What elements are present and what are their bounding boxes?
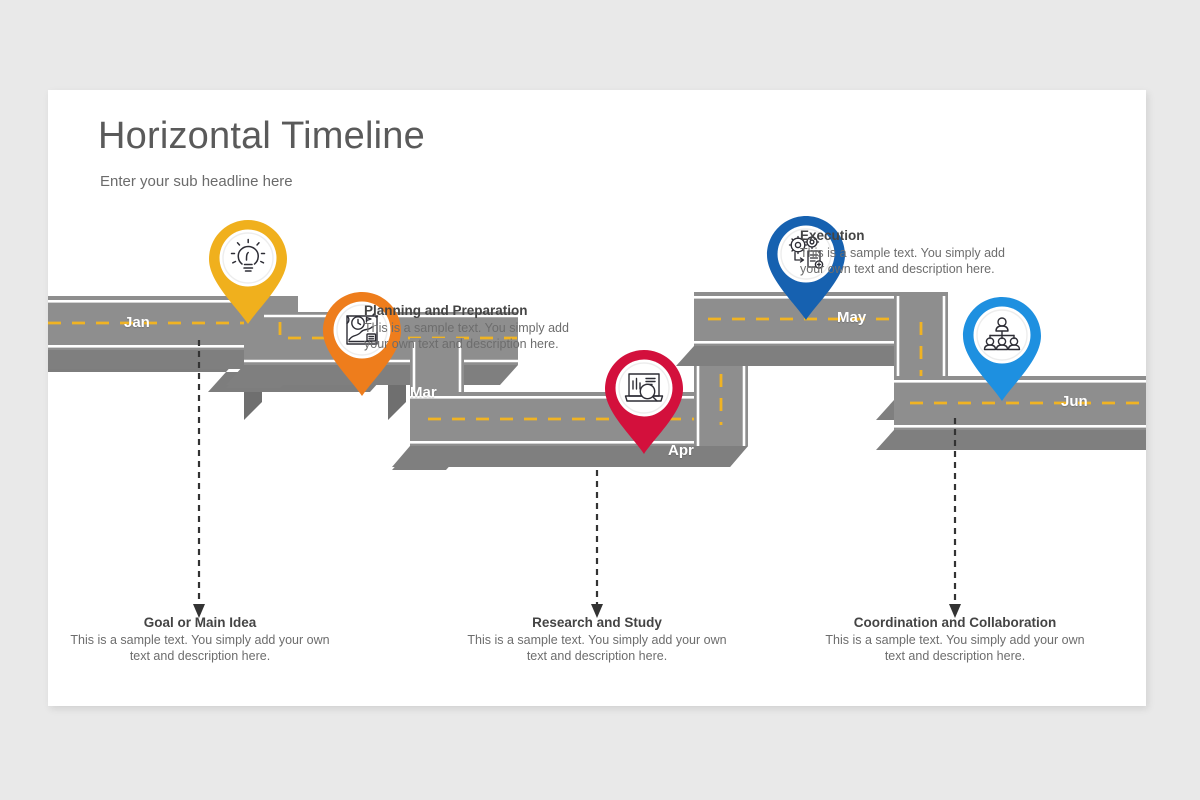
bottom-label-research-body: This is a sample text. You simply add yo… xyxy=(467,633,727,665)
research-connector xyxy=(591,470,603,618)
bottom-label-coordination: Coordination and Collaboration This is a… xyxy=(825,615,1085,665)
pin-research[interactable] xyxy=(602,348,686,456)
callout-execution: Execution This is a sample text. You sim… xyxy=(800,228,1025,278)
callout-planning-body: This is a sample text. You simply add yo… xyxy=(364,321,589,353)
bottom-label-coordination-body: This is a sample text. You simply add yo… xyxy=(825,633,1085,665)
callout-planning: Planning and Preparation This is a sampl… xyxy=(364,303,589,353)
screenshot-stage: Horizontal Timeline Enter your sub headl… xyxy=(0,0,1200,800)
coordination-connector xyxy=(949,418,961,618)
bottom-label-goal-body: This is a sample text. You simply add yo… xyxy=(70,633,330,665)
pin-coordination[interactable] xyxy=(960,295,1044,403)
goal-connector xyxy=(193,340,205,618)
bottom-label-research: Research and Study This is a sample text… xyxy=(467,615,727,665)
slide-canvas: Horizontal Timeline Enter your sub headl… xyxy=(48,90,1146,706)
bottom-label-coordination-title: Coordination and Collaboration xyxy=(825,615,1085,630)
pin-goal[interactable] xyxy=(206,218,290,326)
callout-execution-title: Execution xyxy=(800,228,1025,243)
bottom-label-goal-title: Goal or Main Idea xyxy=(70,615,330,630)
bottom-label-research-title: Research and Study xyxy=(467,615,727,630)
bottom-label-goal: Goal or Main Idea This is a sample text.… xyxy=(70,615,330,665)
callout-execution-body: This is a sample text. You simply add yo… xyxy=(800,246,1025,278)
callout-planning-title: Planning and Preparation xyxy=(364,303,589,318)
pin-inner-circle xyxy=(220,230,277,287)
